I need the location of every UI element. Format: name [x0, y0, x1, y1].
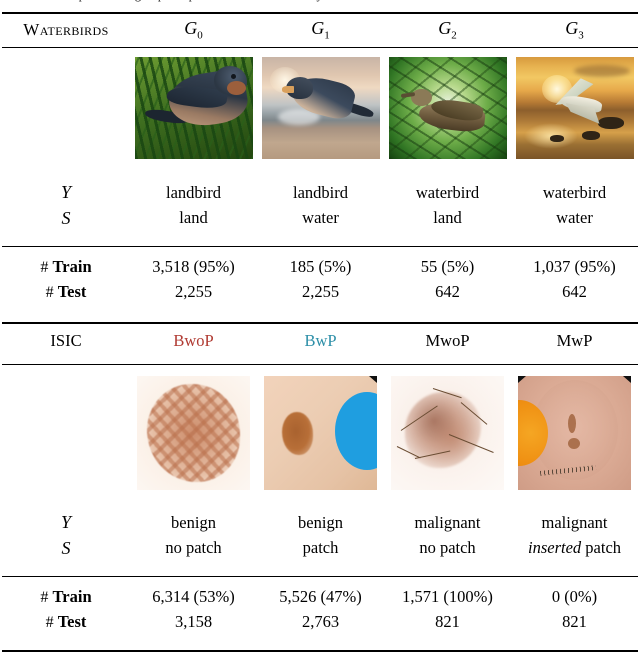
- isic-train-value-2: 1,571 (100%): [384, 587, 511, 607]
- isic-stats-rows: # Train 6,314 (53%) 5,526 (47%) 1,571 (1…: [2, 587, 638, 637]
- waterbirds-header-row: Waterbirds G0 G1 G2 G3: [2, 18, 638, 42]
- benign-without-patch-image: [137, 376, 250, 490]
- bottomrule-isic: [2, 650, 638, 652]
- isic-label-rows: Y benign benign malignant malignant S no…: [2, 512, 638, 563]
- waterbirds-image-cell-2: [384, 57, 511, 159]
- isic-image-row-spacer: [2, 376, 130, 490]
- isic-s-label: S: [2, 533, 130, 563]
- waterbirds-group-0-header: G0: [130, 18, 257, 42]
- waterbirds-test-value-0: 2,255: [130, 277, 257, 307]
- midrule-waterbirds-header: [2, 47, 638, 48]
- isic-image-cell-0: [130, 376, 257, 490]
- isic-train-value-0: 6,314 (53%): [130, 587, 257, 607]
- isic-train-value-1: 5,526 (47%): [257, 587, 384, 607]
- waterbirds-s-value-2: land: [384, 203, 511, 233]
- isic-s-value-0: no patch: [130, 533, 257, 563]
- waterbirds-s-value-1: water: [257, 203, 384, 233]
- waterbirds-train-value-0: 3,518 (95%): [130, 257, 257, 277]
- midrule-isic-stats: [2, 576, 638, 577]
- isic-y-value-0: benign: [130, 512, 257, 533]
- waterbirds-image-cell-0: [130, 57, 257, 159]
- isic-group-1-header: BwP: [257, 331, 384, 351]
- isic-dataset-label: ISIC: [2, 331, 130, 351]
- isic-y-value-3: malignant: [511, 512, 638, 533]
- waterbirds-test-value-1: 2,255: [257, 277, 384, 307]
- waterbirds-group-2-header: G2: [384, 18, 511, 42]
- isic-test-value-0: 3,158: [130, 607, 257, 637]
- isic-test-value-1: 2,763: [257, 607, 384, 637]
- isic-s-value-3-suffix: patch: [585, 538, 621, 557]
- waterbirds-test-value-3: 642: [511, 277, 638, 307]
- waterbirds-y-value-2: waterbird: [384, 182, 511, 203]
- isic-image-cell-3: [511, 376, 638, 490]
- waterbirds-s-value-0: land: [130, 203, 257, 233]
- table-figure: Table 1: Example dataset group compositi…: [0, 0, 640, 655]
- waterbirds-s-row: S land water land water: [2, 203, 638, 233]
- waterbirds-stats-rows: # Train 3,518 (95%) 185 (5%) 55 (5%) 1,0…: [2, 257, 638, 307]
- isic-test-label: # Test: [2, 607, 130, 637]
- waterbirds-y-value-0: landbird: [130, 182, 257, 203]
- waterbirds-y-value-1: landbird: [257, 182, 384, 203]
- waterbirds-s-label: S: [2, 203, 130, 233]
- malignant-with-inserted-patch-image: [518, 376, 631, 490]
- isic-y-row: Y benign benign malignant malignant: [2, 512, 638, 533]
- isic-group-0-header: BwoP: [130, 331, 257, 351]
- isic-y-value-1: benign: [257, 512, 384, 533]
- isic-y-label: Y: [2, 512, 130, 533]
- waterbirds-train-value-1: 185 (5%): [257, 257, 384, 277]
- isic-test-value-2: 821: [384, 607, 511, 637]
- midrule-waterbirds-stats: [2, 246, 638, 247]
- waterbirds-y-value-3: waterbird: [511, 182, 638, 203]
- isic-s-value-3: inserted patch: [511, 533, 638, 563]
- waterbirds-test-label: # Test: [2, 277, 130, 307]
- benign-with-patch-image: [264, 376, 377, 490]
- waterbirds-y-row: Y landbird landbird waterbird waterbird: [2, 182, 638, 203]
- isic-train-value-3: 0 (0%): [511, 587, 638, 607]
- waterbirds-train-label: # Train: [2, 257, 130, 277]
- waterbirds-label-rows: Y landbird landbird waterbird waterbird …: [2, 182, 638, 233]
- bottomrule-waterbirds: [2, 322, 638, 324]
- waterbirds-image-row: [2, 57, 638, 159]
- isic-image-row: [2, 376, 638, 490]
- waterbirds-test-value-2: 642: [384, 277, 511, 307]
- isic-s-row: S no patch patch no patch inserted patch: [2, 533, 638, 563]
- isic-s-value-2: no patch: [384, 533, 511, 563]
- waterbirds-image-cell-1: [257, 57, 384, 159]
- waterbirds-s-value-3: water: [511, 203, 638, 233]
- waterbird-on-water-image: [516, 57, 634, 159]
- isic-header-row: ISIC BwoP BwP MwoP MwP: [2, 331, 638, 351]
- isic-s-value-1: patch: [257, 533, 384, 563]
- waterbirds-image-row-spacer: [2, 57, 130, 159]
- waterbirds-y-label: Y: [2, 182, 130, 203]
- isic-test-row: # Test 3,158 2,763 821 821: [2, 607, 638, 637]
- isic-image-cell-2: [384, 376, 511, 490]
- waterbirds-group-3-header: G3: [511, 18, 638, 42]
- malignant-without-patch-image: [391, 376, 504, 490]
- landbird-on-water-image: [262, 57, 380, 159]
- waterbirds-test-row: # Test 2,255 2,255 642 642: [2, 277, 638, 307]
- landbird-on-land-image: [135, 57, 253, 159]
- isic-train-label: # Train: [2, 587, 130, 607]
- isic-y-value-2: malignant: [384, 512, 511, 533]
- waterbirds-group-1-header: G1: [257, 18, 384, 42]
- waterbirds-image-cell-3: [511, 57, 638, 159]
- waterbirds-dataset-label: Waterbirds: [2, 18, 130, 42]
- isic-train-row: # Train 6,314 (53%) 5,526 (47%) 1,571 (1…: [2, 587, 638, 607]
- isic-group-2-header: MwoP: [384, 331, 511, 351]
- waterbirds-train-value-2: 55 (5%): [384, 257, 511, 277]
- figure-caption-clipped: Table 1: Example dataset group compositi…: [6, 0, 634, 4]
- toprule-waterbirds: [2, 12, 638, 14]
- isic-image-cell-1: [257, 376, 384, 490]
- isic-group-3-header: MwP: [511, 331, 638, 351]
- waterbird-on-land-image: [389, 57, 507, 159]
- waterbirds-train-value-3: 1,037 (95%): [511, 257, 638, 277]
- isic-test-value-3: 821: [511, 607, 638, 637]
- midrule-isic-header: [2, 364, 638, 365]
- waterbirds-train-row: # Train 3,518 (95%) 185 (5%) 55 (5%) 1,0…: [2, 257, 638, 277]
